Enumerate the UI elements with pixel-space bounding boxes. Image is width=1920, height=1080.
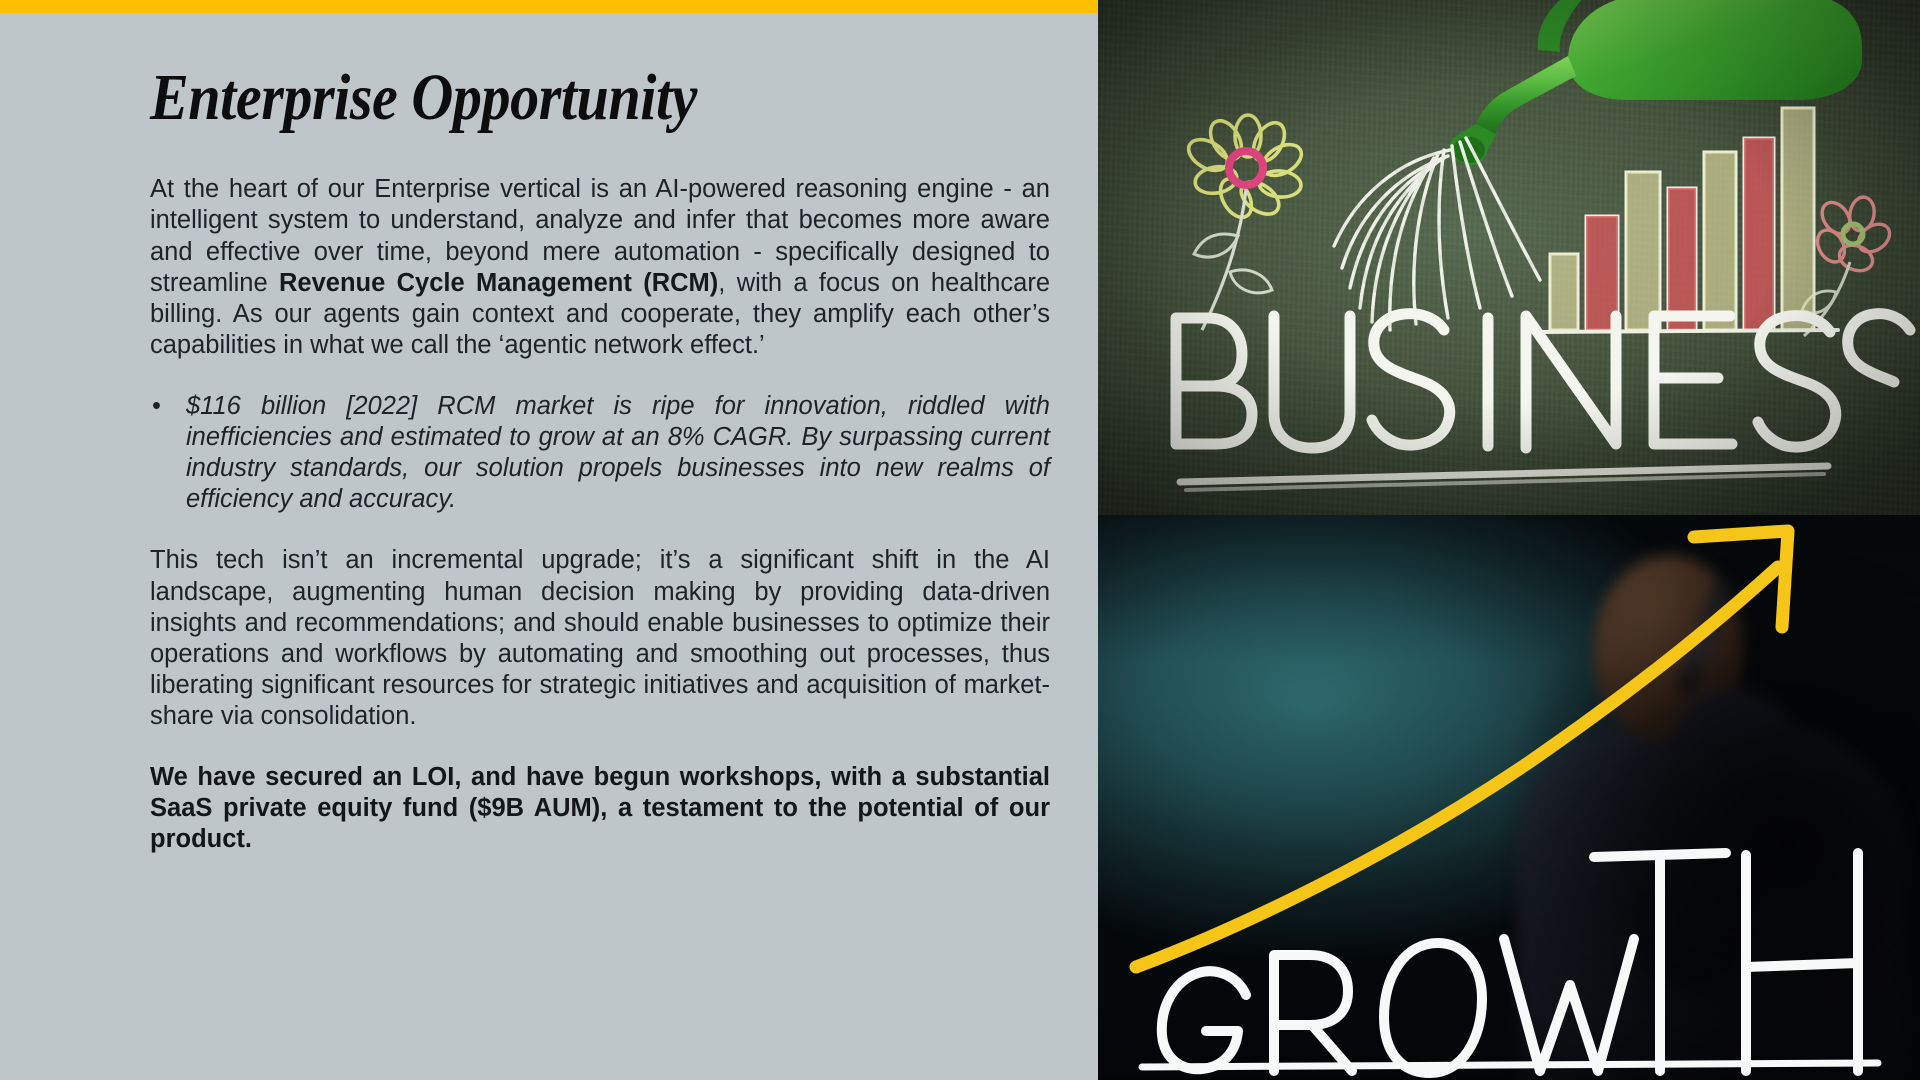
paragraph-shift: This tech isn’t an incremental upgrade; …	[150, 545, 1050, 732]
content-panel: Enterprise Opportunity At the heart of o…	[0, 0, 1098, 1080]
growth-arrow-image	[1098, 515, 1920, 1080]
presentation-slide: Enterprise Opportunity At the heart of o…	[0, 0, 1920, 1080]
content-column: Enterprise Opportunity At the heart of o…	[150, 13, 1055, 855]
list-item: •$116 billion [2022] RCM market is ripe …	[150, 391, 1050, 515]
rcm-emphasis: Revenue Cycle Management (RCM)	[279, 269, 718, 297]
bullet-dot-icon: •	[152, 391, 161, 422]
top-accent-bar	[0, 0, 1098, 13]
page-title: Enterprise Opportunity	[150, 13, 946, 132]
growth-drawing	[1098, 515, 1920, 1080]
growth-baseline	[1142, 1063, 1878, 1067]
body-copy: At the heart of our Enterprise vertical …	[150, 174, 1050, 855]
bullet-text: $116 billion [2022] RCM market is ripe f…	[186, 392, 1050, 513]
image-panel	[1098, 0, 1920, 1080]
rising-arrow-icon	[1136, 531, 1788, 967]
paragraph-intro: At the heart of our Enterprise vertical …	[150, 174, 1050, 361]
market-bullet-list: •$116 billion [2022] RCM market is ripe …	[150, 391, 1050, 515]
growth-word-chalk	[1162, 853, 1858, 1073]
paragraph-loi: We have secured an LOI, and have begun w…	[150, 762, 1050, 855]
chalkboard-vignette	[1098, 0, 1920, 515]
business-chalkboard-image	[1098, 0, 1920, 515]
